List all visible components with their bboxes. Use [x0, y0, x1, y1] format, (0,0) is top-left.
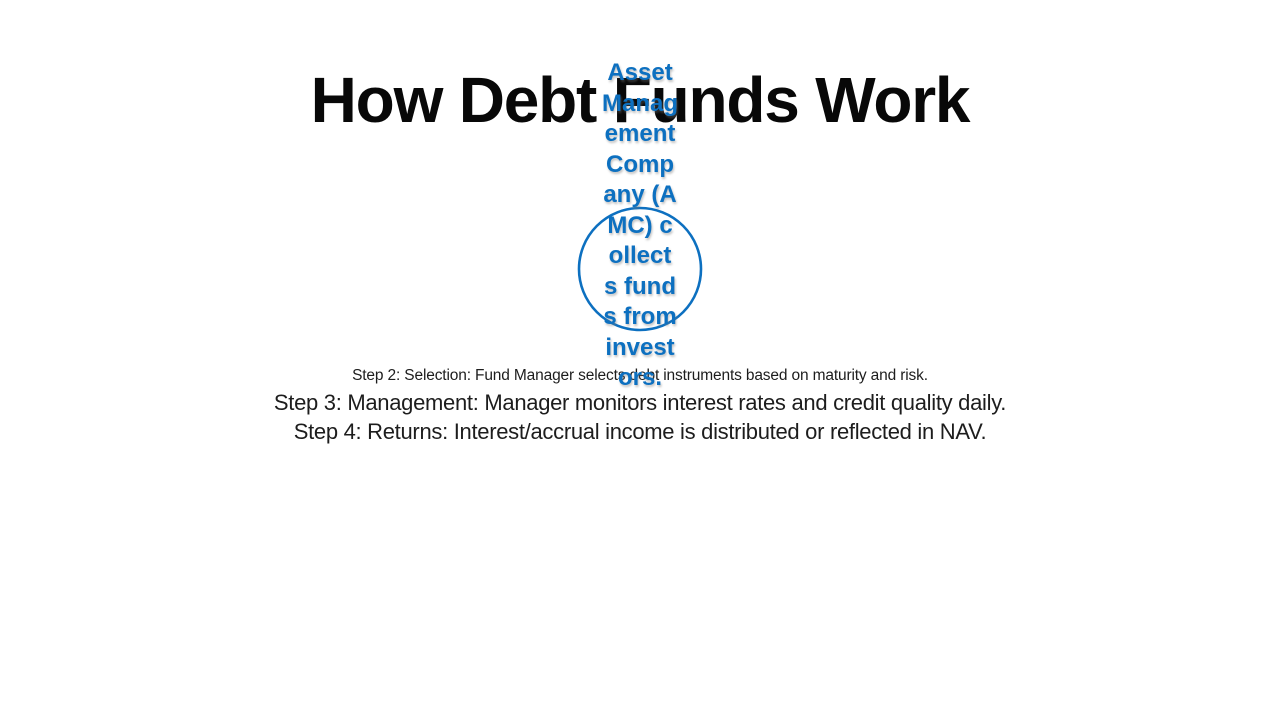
- step-line-4: Step 4: Returns: Interest/accrual income…: [0, 417, 1280, 446]
- slide-canvas: How Debt Funds Work Step 2: Selection: F…: [0, 0, 1280, 720]
- diagram-node-label: Asset Management Company (AMC) collects …: [602, 58, 678, 394]
- diagram-node-amc[interactable]: Asset Management Company (AMC) collects …: [577, 206, 703, 332]
